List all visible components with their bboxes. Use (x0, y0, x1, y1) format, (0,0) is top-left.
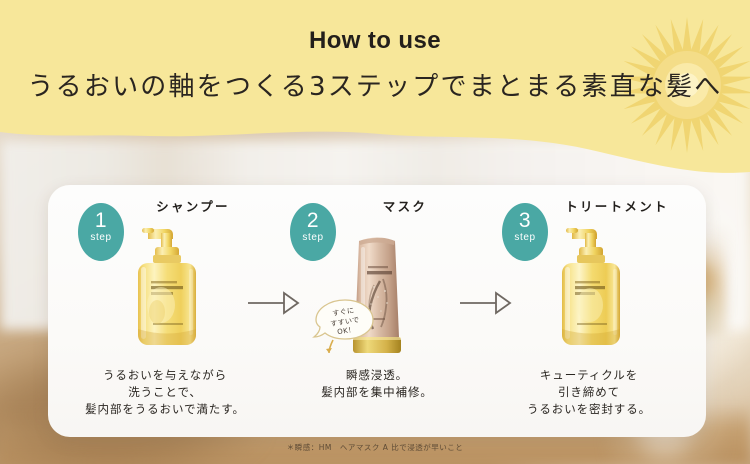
arrow-right-icon-2 (460, 290, 516, 316)
step-1-caption: うるおいを与えながら 洗うことで、 髪内部をうるおいで満たす。 (56, 367, 274, 418)
step-1-product-title: シャンプー (118, 196, 268, 215)
speech-bubble: すぐに すすいで OK！ (311, 296, 379, 358)
step-3-caption-line-1: キューティクルを (480, 367, 698, 384)
step-1-caption-line-3: 髪内部をうるおいで満たす。 (56, 401, 274, 418)
step-2-caption-line-1: 瞬感浸透。 (268, 367, 486, 384)
step-1-caption-line-1: うるおいを与えながら (56, 367, 274, 384)
step-1-product-image (56, 219, 274, 359)
step-3-product-title: トリートメント (542, 196, 692, 215)
step-3-caption: キューティクルを 引き締めて うるおいを密封する。 (480, 367, 698, 418)
how-to-use-infographic: How to use うるおいの軸をつくる3ステップでまとまる素直な髪へ 1 s… (0, 0, 750, 464)
step-3-caption-line-2: 引き締めて (480, 384, 698, 401)
footnote: ＊瞬感：HM ヘアマスク A 比で浸透が早いこと (0, 442, 750, 453)
step-1-caption-line-2: 洗うことで、 (56, 384, 274, 401)
step-2-caption-line-2: 髪内部を集中補修。 (268, 384, 486, 401)
step-3-caption-line-3: うるおいを密封する。 (480, 401, 698, 418)
page-title: How to use (0, 27, 750, 55)
arrow-right-icon-1 (248, 290, 304, 316)
step-3-product-image (480, 219, 698, 359)
page-subtitle: うるおいの軸をつくる3ステップでまとまる素直な髪へ (0, 66, 750, 103)
step-2-caption: 瞬感浸透。 髪内部を集中補修。 (268, 367, 486, 401)
step-1: 1 step シャンプー (56, 185, 274, 437)
step-2-product-title: マスク (330, 196, 480, 215)
